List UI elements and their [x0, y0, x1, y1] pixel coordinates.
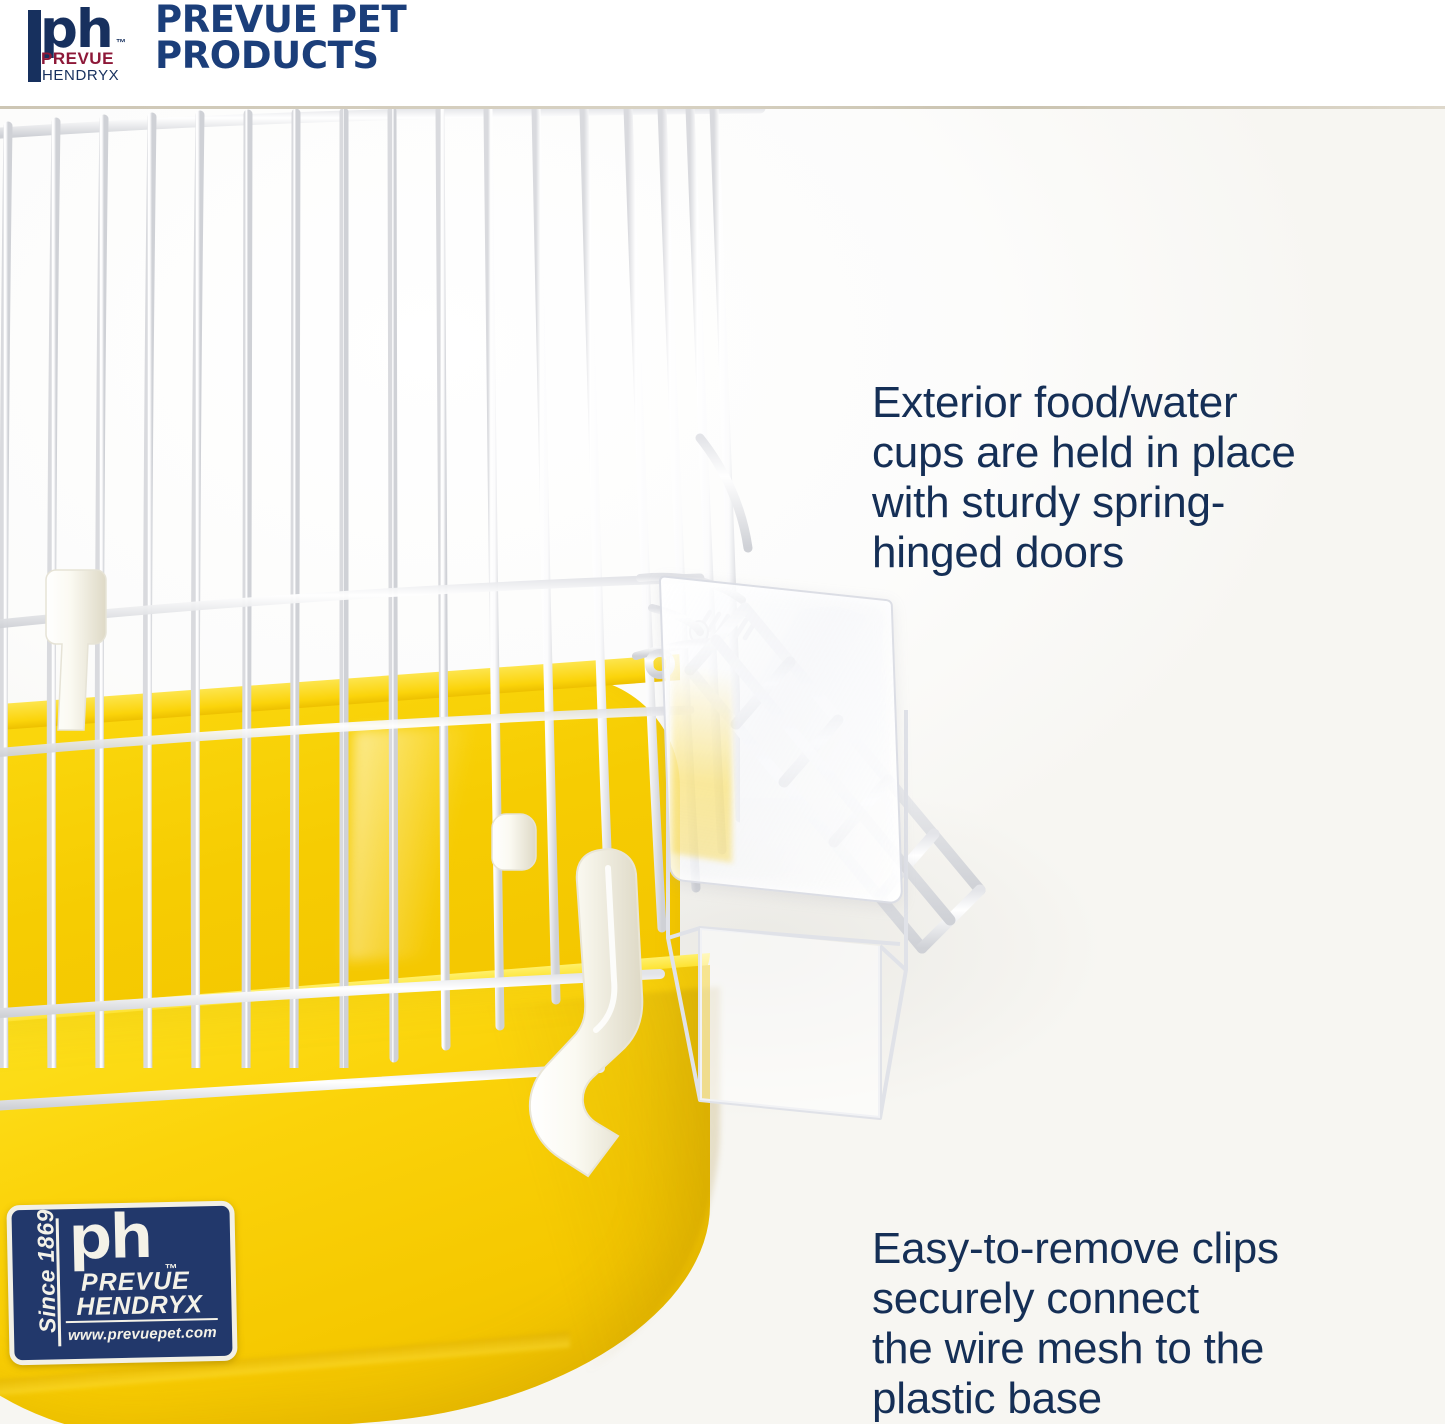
logo-trademark-icon: ™	[116, 38, 126, 49]
logo-brand-hendryx: HENDRYX	[42, 68, 119, 83]
callout-food-water-cups: Exterior food/water cups are held in pla…	[872, 378, 1352, 578]
callout-easy-remove-clips: Easy-to-remove clips securely connect th…	[872, 1224, 1342, 1424]
prevue-hendryx-logo-icon: ph ™ PREVUE HENDRYX	[28, 6, 140, 84]
badge-website-url: www.prevuepet.com	[68, 1324, 217, 1344]
product-label-badge: Since 1869 ph ™ PREVUE HENDRYX www.prevu…	[6, 1201, 237, 1366]
page-header: ph ™ PREVUE HENDRYX PREVUE PET PRODUCTS	[0, 0, 1445, 108]
product-photo: Since 1869 ph ™ PREVUE HENDRYX www.prevu…	[0, 108, 1445, 1424]
product-feature-image: ph ™ PREVUE HENDRYX PREVUE PET PRODUCTS	[0, 0, 1445, 1424]
feeder-cup-tint	[672, 663, 732, 863]
page-title: PREVUE PET PRODUCTS	[155, 2, 675, 74]
badge-brand-hendryx: HENDRYX	[76, 1292, 202, 1320]
logo-brand-prevue: PREVUE	[41, 50, 114, 67]
badge-ph-mark: ph	[67, 1205, 151, 1269]
header-divider	[0, 106, 1445, 109]
